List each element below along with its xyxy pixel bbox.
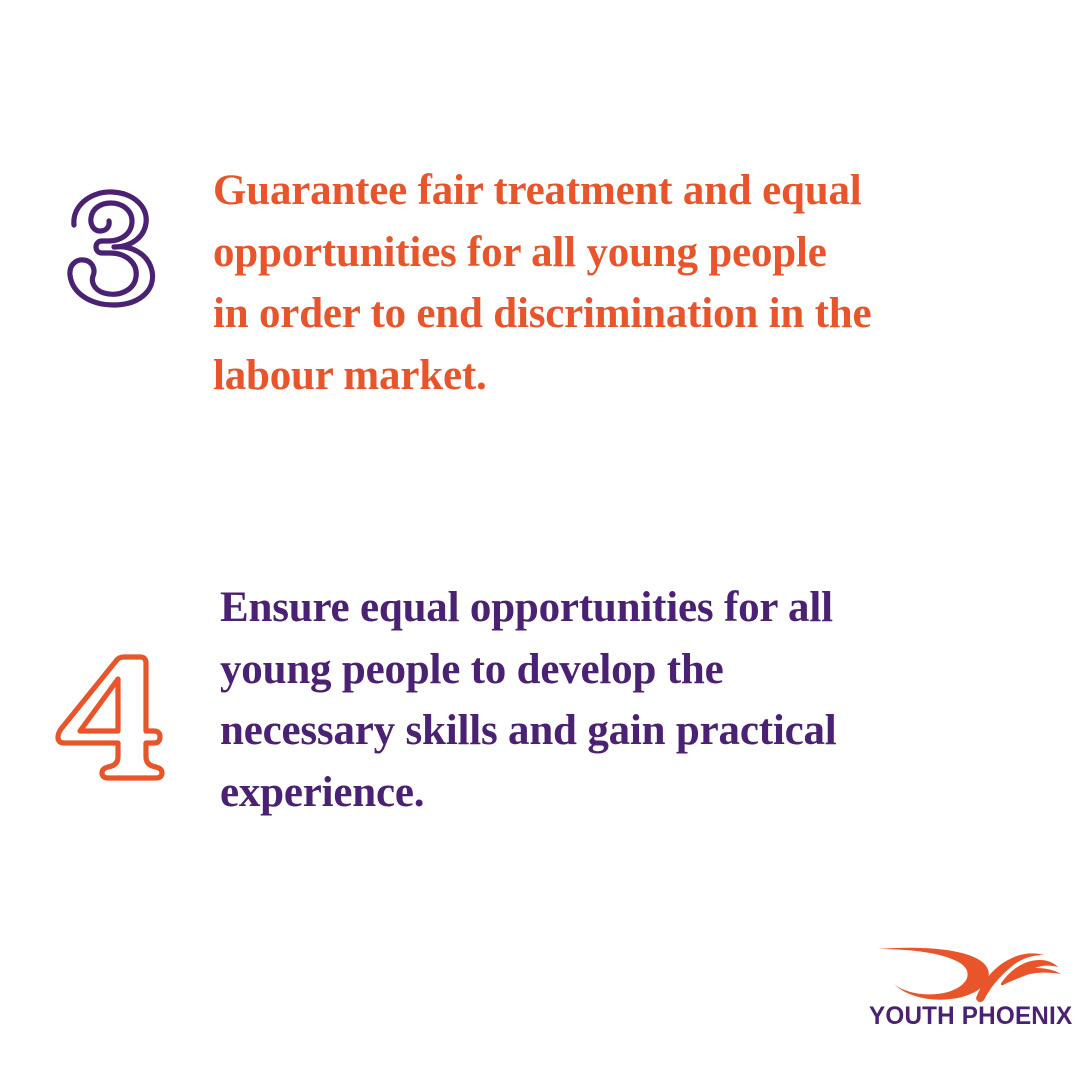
text-line: Guarantee fair treatment and equal bbox=[213, 160, 871, 222]
text-line: opportunities for all young people bbox=[213, 222, 871, 284]
text-line: labour market. bbox=[213, 345, 871, 407]
text-line: young people to develop the bbox=[220, 639, 837, 701]
poster-canvas: Guarantee fair treatment and equal oppor… bbox=[0, 0, 1080, 1080]
numeral-4-outline bbox=[52, 645, 170, 785]
text-line: necessary skills and gain practical bbox=[220, 700, 837, 762]
text-line: experience. bbox=[220, 762, 837, 824]
recommendation-4-text: Ensure equal opportunities for all young… bbox=[220, 577, 837, 823]
text-line: in order to end discrimination in the bbox=[213, 283, 871, 345]
recommendation-3-text: Guarantee fair treatment and equal oppor… bbox=[213, 160, 871, 406]
text-line: Ensure equal opportunities for all bbox=[220, 577, 837, 639]
numeral-3-outline bbox=[52, 183, 170, 311]
phoenix-bird-icon bbox=[872, 938, 1062, 1004]
youth-phoenix-logo: YOUTH PHOENIX bbox=[866, 938, 1068, 1042]
logo-wordmark: YOUTH PHOENIX bbox=[869, 1002, 1065, 1031]
